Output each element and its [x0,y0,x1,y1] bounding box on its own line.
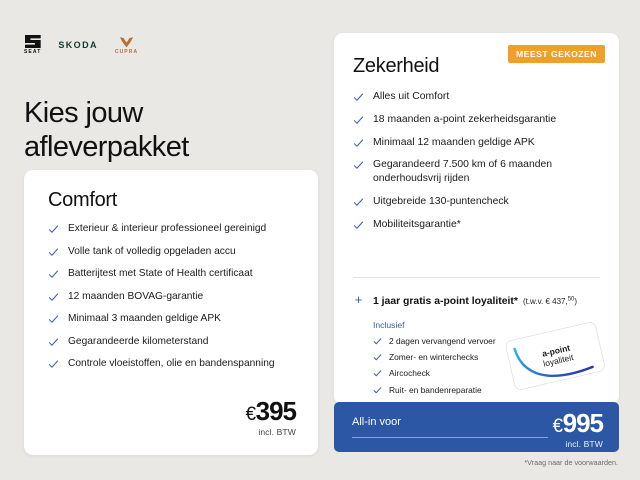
allin-price-panel: All-in voor €995 incl. BTW [334,402,619,452]
seat-logo-icon [25,35,41,48]
list-item: 12 maanden BOVAG-garantie [48,290,296,304]
feature-text: Minimaal 3 maanden geldige APK [68,312,221,326]
feature-text: 18 maanden a-point zekerheidsgarantie [373,113,556,127]
allin-rule [352,437,548,438]
inclusief-label: Inclusief [373,320,608,330]
brand-logo-strip: SEAT SKODA CUPRA [24,34,138,56]
plan-card-comfort[interactable]: Comfort Exterieur & interieur profession… [24,170,318,455]
section-divider [353,277,600,278]
plan-title-comfort: Comfort [48,189,117,212]
list-item: Batterijtest met State of Health certifi… [48,267,296,281]
inclusief-text: Zomer- en winterchecks [389,352,478,363]
check-icon [353,138,364,149]
inclusief-list: 2 dagen vervangend vervoer Zomer- en win… [373,336,608,396]
loyalty-inclusief-block: Inclusief 2 dagen vervangend vervoer Zom… [373,320,608,396]
brand-seat: SEAT [24,35,41,55]
check-icon [48,359,59,370]
list-item: Alles uit Comfort [353,90,605,104]
brand-skoda: SKODA [58,41,98,50]
list-item: Gegarandeerd 7.500 km of 6 maanden onder… [353,158,605,186]
list-item: Mobiliteitsgarantie* [353,218,605,232]
status-badge-most-chosen: MEEST GEKOZEN [508,45,605,63]
loyalty-title: 1 jaar gratis a-point loyaliteit* [373,296,518,307]
feature-text: Uitgebreide 130-puntencheck [373,195,509,209]
feature-text: Gegarandeerde kilometerstand [68,335,208,349]
check-icon [353,220,364,231]
list-item: 18 maanden a-point zekerheidsgarantie [353,113,605,127]
loyalty-value: (t.w.v. € 437,50) [523,297,577,306]
check-icon [353,160,364,171]
comfort-feature-list: Exterieur & interieur professioneel gere… [48,222,296,380]
feature-text: Minimaal 12 maanden geldige APK [373,136,535,150]
comfort-price-note: incl. BTW [246,427,296,437]
feature-text: Batterijtest met State of Health certifi… [68,267,253,281]
inclusief-text: Ruit- en bandenreparatie [389,385,482,396]
feature-text: Gegarandeerd 7.500 km of 6 maanden onder… [373,158,605,186]
loyalty-value-suffix: ) [574,297,577,306]
check-icon [353,197,364,208]
loyalty-value-prefix: (t.w.v. € 437, [523,297,568,306]
feature-text: 12 maanden BOVAG-garantie [68,290,203,304]
loyalty-section: + 1 jaar gratis a-point loyaliteit*(t.w.… [353,291,608,401]
check-icon [373,369,382,378]
loyalty-header: + 1 jaar gratis a-point loyaliteit*(t.w.… [353,291,608,309]
brand-label: SEAT [24,50,41,55]
comfort-price-block: €395 incl. BTW [246,398,296,437]
list-item: Minimaal 3 maanden geldige APK [48,312,296,326]
check-icon [373,353,382,362]
feature-text: Alles uit Comfort [373,90,449,104]
check-icon [48,224,59,235]
list-item: 2 dagen vervangend vervoer [373,336,608,347]
zekerheid-price-note: incl. BTW [553,439,603,449]
plus-icon: + [353,293,364,306]
check-icon [48,269,59,280]
list-item: Volle tank of volledig opgeladen accu [48,245,296,259]
footnote-text: *Vraag naar de voorwaarden. [524,458,618,467]
allin-label: All-in voor [352,416,401,428]
list-item: Zomer- en winterchecks [373,352,608,363]
price-amount: 995 [563,408,603,438]
brand-label: CUPRA [115,50,138,55]
list-item: Ruit- en bandenreparatie [373,385,608,396]
check-icon [48,247,59,258]
price-amount: 395 [256,396,296,426]
cupra-logo-icon [119,36,134,48]
list-item: Minimaal 12 maanden geldige APK [353,136,605,150]
allin-price-block: €995 incl. BTW [553,410,603,449]
plan-title-zekerheid: Zekerheid [353,55,439,78]
skoda-logo-icon: SKODA [58,41,98,50]
plan-card-zekerheid[interactable]: MEEST GEKOZEN Zekerheid Alles uit Comfor… [334,33,619,405]
check-icon [48,337,59,348]
list-item: Gegarandeerde kilometerstand [48,335,296,349]
afleverpakket-page: SEAT SKODA CUPRA Kies jouw afleverpakket… [0,0,640,480]
list-item: Uitgebreide 130-puntencheck [353,195,605,209]
feature-text: Exterieur & interieur professioneel gere… [68,222,266,236]
check-icon [48,314,59,325]
comfort-price: €395 [246,398,296,424]
check-icon [373,386,382,395]
feature-text: Mobiliteitsgarantie* [373,218,461,232]
list-item: Aircocheck [373,368,608,379]
currency-symbol: € [553,416,563,437]
list-item: Exterieur & interieur professioneel gere… [48,222,296,236]
check-icon [373,337,382,346]
check-icon [353,115,364,126]
inclusief-text: 2 dagen vervangend vervoer [389,336,496,347]
brand-cupra: CUPRA [115,36,138,55]
check-icon [353,92,364,103]
zekerheid-price: €995 [553,410,603,436]
page-title: Kies jouw afleverpakket [24,97,314,165]
feature-text: Controle vloeistoffen, olie en bandenspa… [68,357,275,371]
zekerheid-feature-list: Alles uit Comfort 18 maanden a-point zek… [353,90,605,241]
list-item: Controle vloeistoffen, olie en bandenspa… [48,357,296,371]
inclusief-text: Aircocheck [389,368,430,379]
check-icon [48,292,59,303]
feature-text: Volle tank of volledig opgeladen accu [68,245,236,259]
currency-symbol: € [246,404,256,425]
